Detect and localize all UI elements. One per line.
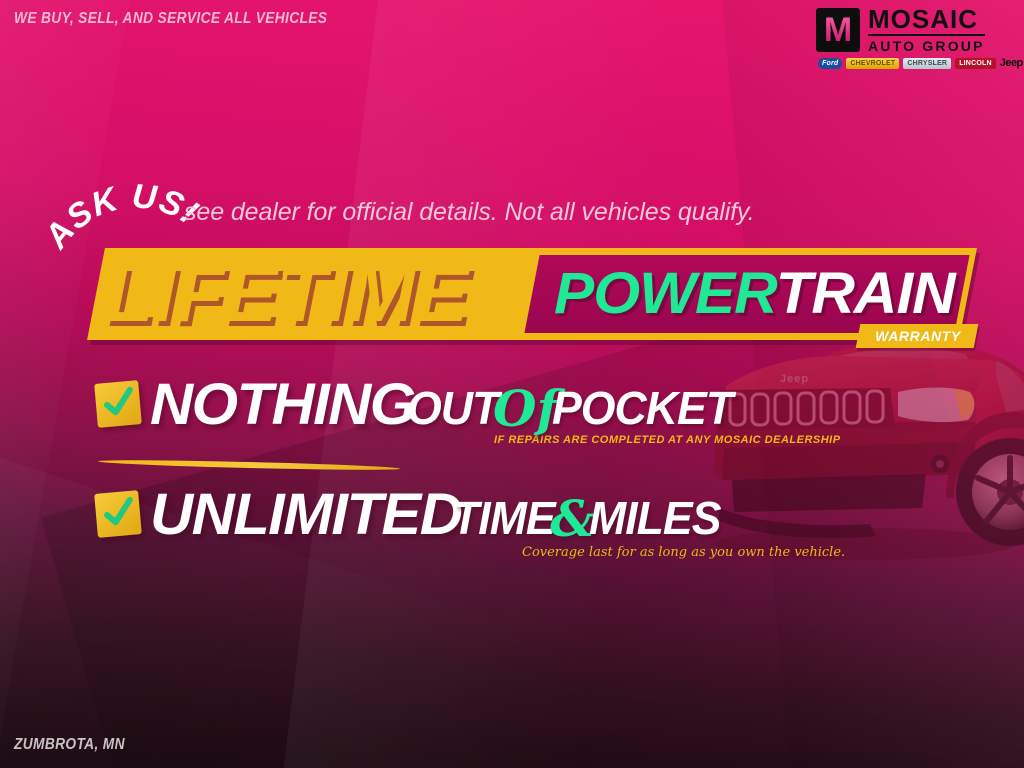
lincoln-logo-icon: LINCOLN [955,58,996,69]
lifetime-powertrain-banner: LIFETIME POWERTRAIN [96,248,968,340]
advertisement-canvas: Jeep [0,0,1024,768]
dealer-logo-wordmark: MOSAIC AUTO GROUP [868,6,985,53]
benefit-script-word: Of [493,384,558,434]
mosaic-m-mark-icon: M [816,8,860,52]
dealer-subtitle: AUTO GROUP [868,39,985,53]
ford-logo-icon: Ford [818,58,842,69]
brand-logo-row: Ford CHEVROLET CHRYSLER LINCOLN Jeep RAM [816,58,1008,69]
benefit-secondary-b: POCKET [552,383,732,433]
checkbox-checked[interactable] [94,380,142,428]
svg-text:ASK US!: ASK US! [37,177,206,256]
check-icon [102,387,136,421]
benefit-main-word: UNLIMITED [150,484,461,546]
benefit-row-unlimited-time-and-miles: UNLIMITEDTIME&MILES Coverage last for as… [96,484,845,560]
dealer-logo[interactable]: M MOSAIC AUTO GROUP Ford CHEVROLET CHRYS… [816,6,1008,69]
chrysler-logo-icon: CHRYSLER [903,58,951,69]
benefit-secondary-a: TIME [452,493,555,543]
jeep-logo-icon: Jeep [1000,58,1023,69]
benefit-row-nothing-out-of-pocket: NOTHINGOUTOfPOCKET IF REPAIRS ARE COMPLE… [96,374,841,446]
warranty-label: WARRANTY [868,326,968,346]
benefit-secondary-b: MILES [589,493,720,543]
dealer-name: MOSAIC [868,6,985,32]
benefit-content: UNLIMITEDTIME&MILES Coverage last for as… [150,484,845,560]
benefit-main-word: NOTHING [150,374,415,436]
promo-disclaimer: see dealer for official details. Not all… [184,198,754,227]
header-tagline: WE BUY, SELL, AND SERVICE ALL VEHICLES [14,10,327,28]
background-streak [0,425,563,768]
benefit-headline: NOTHINGOUTOfPOCKET [150,374,841,436]
benefit-secondary-a: OUT [407,383,498,433]
chevrolet-logo-icon: CHEVROLET [846,58,899,69]
dealer-logo-primary: M MOSAIC AUTO GROUP [816,6,1008,53]
check-icon [102,497,136,531]
benefit-divider [98,458,400,471]
logo-mark-letter: M [824,13,852,47]
banner-shape [87,248,977,340]
banner-magenta-inset [524,255,969,333]
ask-us-text: ASK US! [37,177,206,256]
benefit-headline: UNLIMITEDTIME&MILES [150,484,845,546]
logo-divider [868,34,985,36]
benefit-content: NOTHINGOUTOfPOCKET IF REPAIRS ARE COMPLE… [150,374,841,446]
checkbox-checked[interactable] [94,490,142,538]
dealer-location: ZUMBROTA, MN [14,736,125,754]
